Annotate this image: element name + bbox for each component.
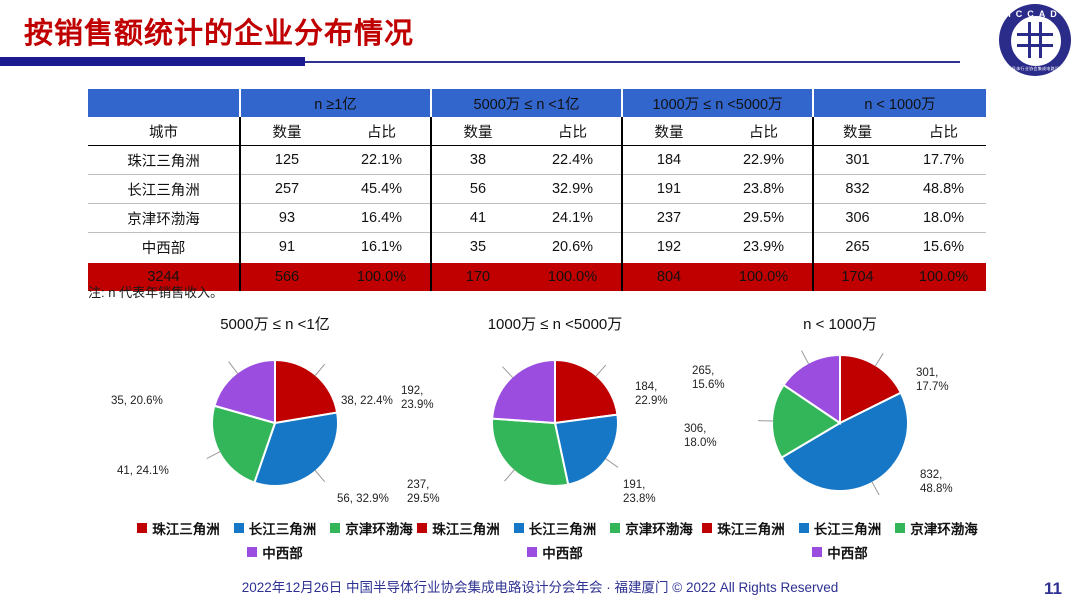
group-header-4: n < 1000万 [813,89,986,117]
row-cell: 24.1% [524,204,622,233]
group-header-blank [88,89,240,117]
legend-item: 中西部 [812,542,868,562]
leader-line [207,452,221,459]
subheader-count-2: 数量 [431,117,524,146]
subheader-share-2: 占比 [524,117,622,146]
leader-line [875,353,883,366]
legend-swatch-zhujiang [417,523,427,533]
row-cell: 125 [240,146,333,175]
row-cell: 38 [431,146,524,175]
total-cell: 100.0% [901,262,986,291]
total-cell: 566 [240,262,333,291]
legend-swatch-jingjin [895,523,905,533]
row-cell: 23.9% [715,233,813,263]
row-city: 中西部 [88,233,240,263]
chart-legend: 珠江三角洲 长江三角洲 京津环渤海 中西部 [670,518,1010,562]
subheader-count-1: 数量 [240,117,333,146]
row-cell: 41 [431,204,524,233]
legend-label: 中西部 [827,542,868,562]
leader-line [802,351,809,365]
pie-slice [492,419,568,486]
row-cell: 91 [240,233,333,263]
page-number: 11 [1044,579,1062,599]
total-cell: 100.0% [524,262,622,291]
table-note: 注: n 代表年销售收入。 [88,282,223,301]
legend-swatch-jingjin [330,523,340,533]
legend-swatch-zhongxibu [247,547,257,557]
legend-item: 珠江三角洲 [702,518,785,538]
pie-data-label: 832,48.8% [920,469,953,496]
legend-label: 中西部 [262,542,303,562]
row-cell: 29.5% [715,204,813,233]
pie-data-label: 41, 24.1% [117,465,169,479]
row-cell: 191 [622,175,715,204]
enterprise-distribution-table: n ≥1亿 5000万 ≤ n <1亿 1000万 ≤ n <5000万 n <… [88,89,986,291]
row-cell: 15.6% [901,233,986,263]
legend-label: 京津环渤海 [910,518,978,538]
row-cell: 265 [813,233,901,263]
row-city: 长江三角洲 [88,175,240,204]
pie-data-label: 301,17.7% [916,367,949,394]
legend-label: 长江三角洲 [814,518,882,538]
pie-data-label: 306,18.0% [684,423,717,450]
row-cell: 832 [813,175,901,204]
row-cell: 45.4% [333,175,431,204]
row-cell: 16.4% [333,204,431,233]
title-rule-thin [305,61,960,63]
total-cell: 100.0% [715,262,813,291]
table-row: 长江三角洲 257 45.4% 56 32.9% 191 23.8% 832 4… [88,175,986,204]
subheader-count-3: 数量 [622,117,715,146]
leader-line [229,362,238,374]
stats-table-wrap: n ≥1亿 5000万 ≤ n <1亿 1000万 ≤ n <5000万 n <… [88,89,986,291]
row-cell: 16.1% [333,233,431,263]
legend-label: 长江三角洲 [529,518,597,538]
row-cell: 56 [431,175,524,204]
legend-swatch-changjiang [234,523,244,533]
pie-data-label: 35, 20.6% [111,395,163,409]
legend-label: 珠江三角洲 [432,518,500,538]
logo-subtitle: 中国半导体行业协会集成电路设计分会 [999,66,1071,72]
row-cell: 237 [622,204,715,233]
legend-swatch-zhongxibu [527,547,537,557]
leader-line [872,482,879,495]
row-cell: 301 [813,146,901,175]
table-row: 珠江三角洲 125 22.1% 38 22.4% 184 22.9% 301 1… [88,146,986,175]
total-cell: 170 [431,262,524,291]
legend-swatch-zhujiang [702,523,712,533]
row-cell: 22.4% [524,146,622,175]
page-title: 按销售额统计的企业分布情况 [24,10,414,52]
legend-swatch-zhujiang [137,523,147,533]
row-cell: 257 [240,175,333,204]
row-cell: 20.6% [524,233,622,263]
pie-data-label: 184,22.9% [635,381,668,408]
row-cell: 93 [240,204,333,233]
pie-data-label: 192,23.9% [401,385,434,412]
total-cell: 1704 [813,262,901,291]
row-city: 京津环渤海 [88,204,240,233]
pie-charts-section: 5000万 ≤ n <1亿 38, 22.4%56, 32.9%41, 24.1… [0,305,1080,570]
table-group-header-row: n ≥1亿 5000万 ≤ n <1亿 1000万 ≤ n <5000万 n <… [88,89,986,117]
leader-line [505,470,515,482]
legend-item: 珠江三角洲 [137,518,220,538]
subheader-share-1: 占比 [333,117,431,146]
subheader-share-4: 占比 [901,117,986,146]
chip-grid-icon [1017,22,1053,58]
pie-data-label: 56, 32.9% [337,493,389,507]
legend-swatch-jingjin [610,523,620,533]
row-cell: 32.9% [524,175,622,204]
leader-line [315,470,325,482]
pie-data-label: 237,29.5% [407,479,440,506]
row-cell: 22.1% [333,146,431,175]
legend-label: 珠江三角洲 [152,518,220,538]
leader-line [315,364,325,376]
total-cell: 804 [622,262,715,291]
row-cell: 17.7% [901,146,986,175]
legend-item: 中西部 [527,542,583,562]
table-sub-header-row: 城市 数量 占比 数量 占比 数量 占比 数量 占比 [88,117,986,146]
group-header-2: 5000万 ≤ n <1亿 [431,89,622,117]
legend-item: 长江三角洲 [514,518,597,538]
legend-label: 长江三角洲 [249,518,317,538]
group-header-1: n ≥1亿 [240,89,431,117]
legend-label: 珠江三角洲 [717,518,785,538]
chart-title: n < 1000万 [670,313,1010,334]
subheader-count-4: 数量 [813,117,901,146]
table-row: 京津环渤海 93 16.4% 41 24.1% 237 29.5% 306 18… [88,204,986,233]
row-cell: 192 [622,233,715,263]
row-city: 珠江三角洲 [88,146,240,175]
row-cell: 48.8% [901,175,986,204]
row-cell: 18.0% [901,204,986,233]
legend-item: 京津环渤海 [895,518,978,538]
row-cell: 23.8% [715,175,813,204]
leader-line [596,365,606,376]
leader-line [503,367,513,378]
pie-data-label: 265,15.6% [692,365,725,392]
legend-item: 长江三角洲 [799,518,882,538]
row-cell: 306 [813,204,901,233]
pie-slice [492,360,555,423]
row-cell: 22.9% [715,146,813,175]
pie-slice [555,360,617,423]
legend-label: 中西部 [542,542,583,562]
leader-line [605,459,617,468]
pie-chart-lt-1000w: n < 1000万 301,17.7%832,48.8%306,18.0%265… [670,305,1010,570]
pie-area: 301,17.7%832,48.8%306,18.0%265,15.6% [670,343,1010,503]
legend-swatch-zhongxibu [812,547,822,557]
title-rule-thick [0,57,305,66]
logo-acronym: ICCAD [999,9,1071,19]
legend-item: 中西部 [247,542,303,562]
group-header-3: 1000万 ≤ n <5000万 [622,89,813,117]
legend-item: 长江三角洲 [234,518,317,538]
row-cell: 35 [431,233,524,263]
pie-data-label: 191,23.8% [623,479,656,506]
row-cell: 184 [622,146,715,175]
iccad-logo: ICCAD 中国半导体行业协会集成电路设计分会 [999,4,1071,76]
legend-swatch-changjiang [514,523,524,533]
total-cell: 100.0% [333,262,431,291]
table-row: 中西部 91 16.1% 35 20.6% 192 23.9% 265 15.6… [88,233,986,263]
subheader-city: 城市 [88,117,240,146]
legend-item: 珠江三角洲 [417,518,500,538]
slide-footer: 2022年12月26日 中国半导体行业协会集成电路设计分会年会 · 福建厦门 ©… [0,576,1080,596]
legend-swatch-changjiang [799,523,809,533]
subheader-share-3: 占比 [715,117,813,146]
